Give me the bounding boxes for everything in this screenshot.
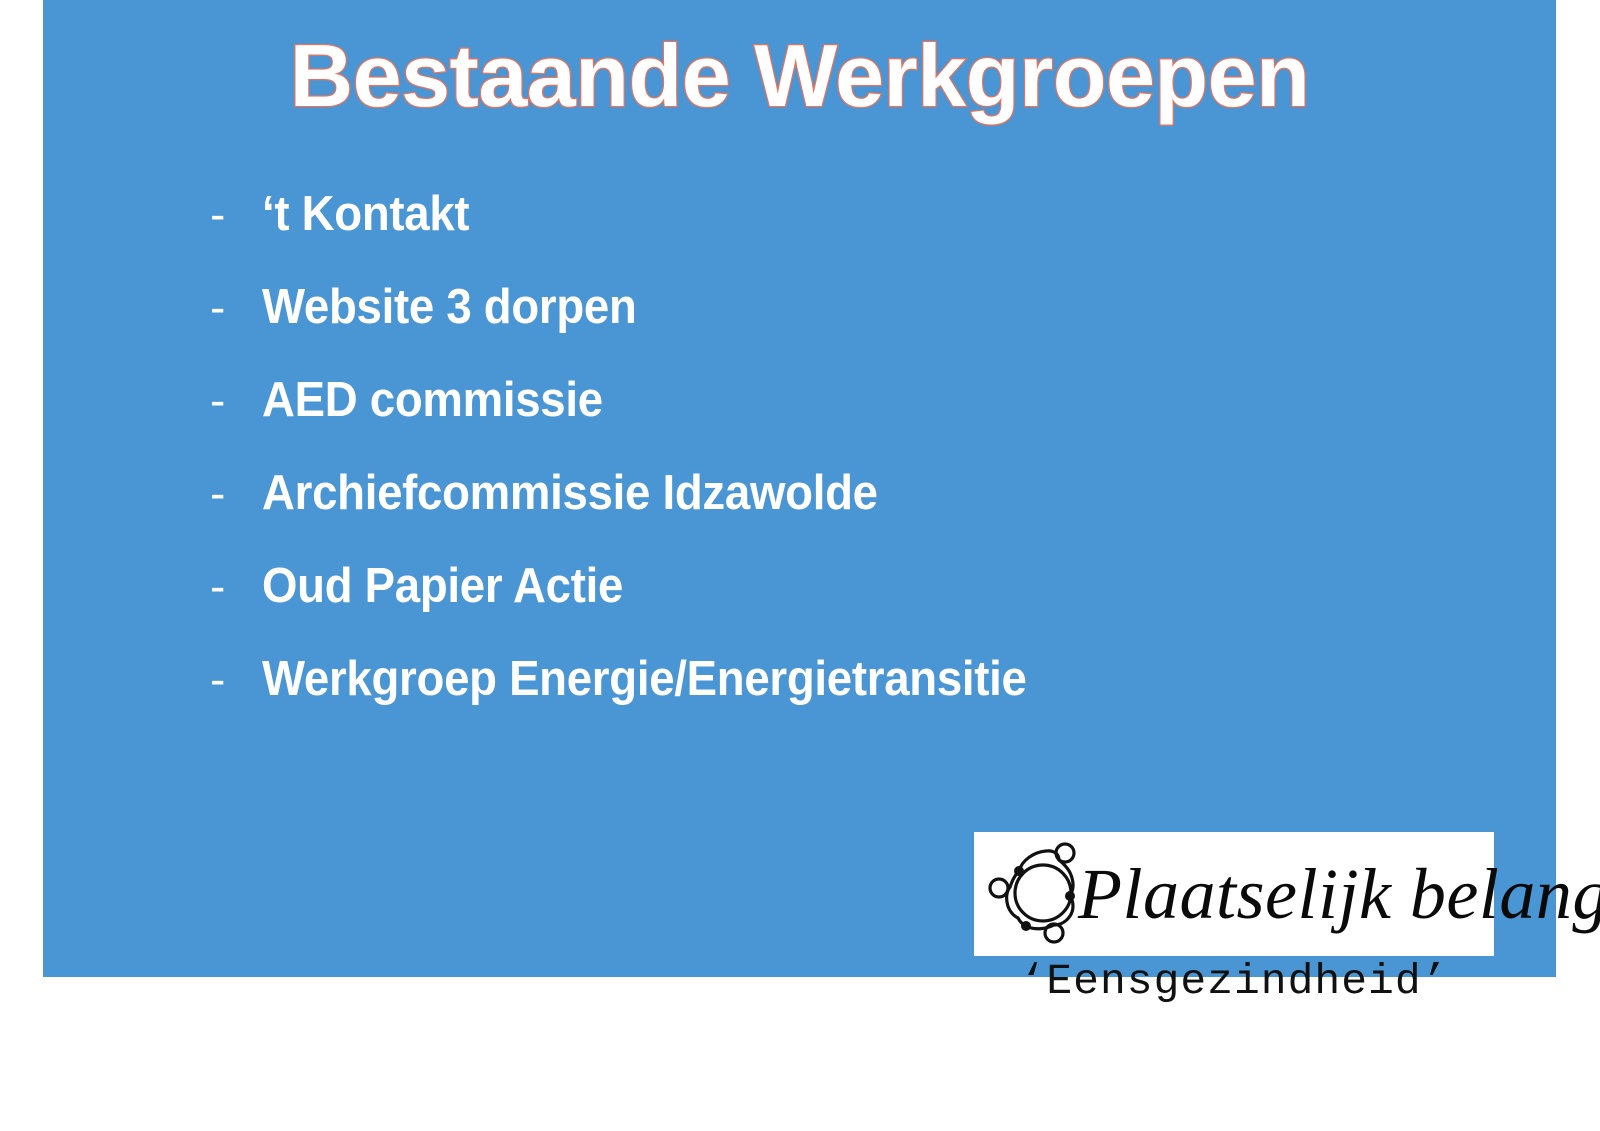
list-item[interactable]: - Archiefcommissie Idzawolde xyxy=(210,464,1460,557)
slide-canvas: Bestaande Werkgroepen - ‘t Kontakt - Web… xyxy=(0,0,1600,1131)
bullet-dash-icon: - xyxy=(210,557,262,615)
list-item-label: Werkgroep Energie/Energietransitie xyxy=(262,650,1027,708)
bullet-dash-icon: - xyxy=(210,464,262,522)
slide-blue-panel: Bestaande Werkgroepen - ‘t Kontakt - Web… xyxy=(43,0,1556,977)
list-item-label: ‘t Kontakt xyxy=(262,185,469,243)
bullet-dash-icon: - xyxy=(210,371,262,429)
list-item-label: Oud Papier Actie xyxy=(262,557,623,615)
organization-logo: Plaatselijk belang xyxy=(974,832,1494,956)
logo-tagline: ‘Eensgezindheid’ xyxy=(974,956,1494,1008)
logo-wordmark: Plaatselijk belang xyxy=(1078,850,1600,938)
list-item[interactable]: - Website 3 dorpen xyxy=(210,278,1460,371)
logo-inner: Plaatselijk belang xyxy=(974,832,1494,956)
list-item[interactable]: - Oud Papier Actie xyxy=(210,557,1460,650)
bullet-dash-icon: - xyxy=(210,278,262,336)
bullet-dash-icon: - xyxy=(210,650,262,708)
list-item-label: Website 3 dorpen xyxy=(262,278,637,336)
list-item[interactable]: - ‘t Kontakt xyxy=(210,185,1460,278)
page-title: Bestaande Werkgroepen xyxy=(43,30,1556,122)
bullet-dash-icon: - xyxy=(210,185,262,243)
list-item-label: Archiefcommissie Idzawolde xyxy=(262,464,878,522)
list-item-label: AED commissie xyxy=(262,371,603,429)
list-item[interactable]: - AED commissie xyxy=(210,371,1460,464)
list-item[interactable]: - Werkgroep Energie/Energietransitie xyxy=(210,650,1460,743)
werkgroepen-list: - ‘t Kontakt - Website 3 dorpen - AED co… xyxy=(210,185,1460,743)
